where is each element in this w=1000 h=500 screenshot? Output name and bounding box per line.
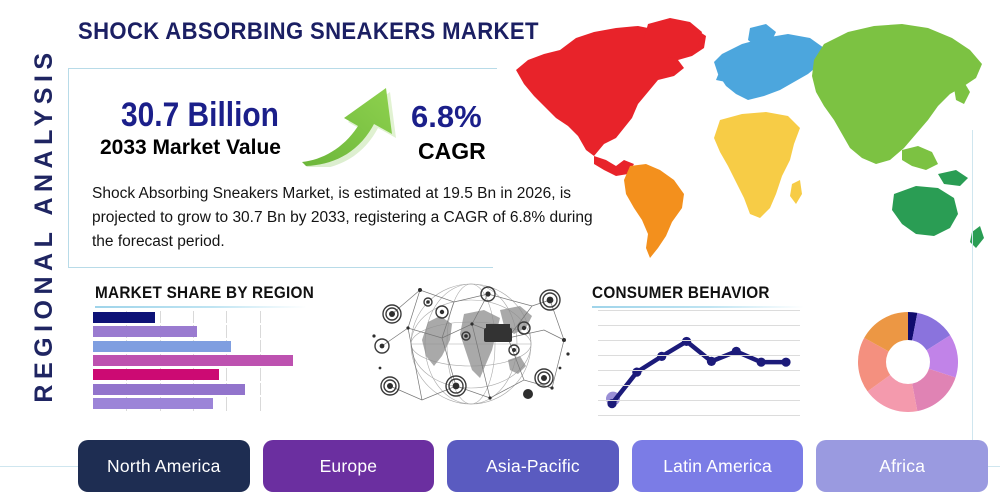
region-pill-europe[interactable]: Europe [263, 440, 435, 492]
page-title: SHOCK ABSORBING SNEAKERS MARKET [78, 18, 539, 46]
bar-gap [93, 323, 293, 325]
bar-chart-bar [93, 355, 293, 366]
region-pill-bar: North AmericaEuropeAsia-PacificLatin Ame… [78, 440, 988, 492]
map-region-south-america [624, 164, 684, 258]
right-vertical-rule [972, 130, 973, 470]
bar-gap [93, 338, 293, 340]
bar-chart-bar [93, 398, 213, 409]
global-network-globe-graphic [368, 268, 573, 420]
bar-gap [93, 366, 293, 368]
map-region-africa [714, 112, 800, 218]
region-pill-africa[interactable]: Africa [816, 440, 988, 492]
region-pill-latin-america[interactable]: Latin America [632, 440, 804, 492]
section-rule [592, 306, 804, 308]
gridline [598, 325, 800, 326]
bar-gap [93, 352, 293, 354]
map-region-australia [892, 186, 958, 236]
line-chart-marker [781, 358, 790, 367]
bar-chart-bar [93, 341, 231, 352]
bar-gap [93, 381, 293, 383]
map-region-new-guinea [938, 170, 968, 186]
consumer-behavior-line-chart [598, 310, 800, 415]
bar-chart-bars [93, 311, 293, 411]
gridline [598, 415, 800, 416]
section-title-market-share: MARKET SHARE BY REGION [95, 283, 286, 303]
donut-hole [886, 340, 930, 384]
gridline [598, 310, 800, 311]
side-label-regional-analysis: REGIONAL ANALYSIS [30, 15, 70, 435]
market-share-bar-chart [93, 311, 293, 411]
bar-chart-bar [93, 312, 155, 323]
section-rule [95, 306, 307, 308]
growth-arrow-icon [300, 82, 410, 167]
section-market-share: MARKET SHARE BY REGION [95, 283, 307, 308]
line-chart-marker [657, 352, 666, 361]
cagr-caption: CAGR [418, 138, 486, 165]
map-region-madagascar [790, 180, 802, 204]
line-chart-marker [707, 357, 716, 366]
gridline [598, 340, 800, 341]
market-value-figure: 30.7 Billion [121, 96, 279, 135]
infographic-canvas: REGIONAL ANALYSIS SHOCK ABSORBING SNEAKE… [0, 0, 1000, 500]
map-region-southeast-asia [902, 146, 938, 170]
world-map [498, 8, 998, 273]
section-consumer-behavior: CONSUMER BEHAVIOR [592, 283, 804, 308]
market-value-caption: 2033 Market Value [100, 136, 281, 160]
bar-chart-bar [93, 369, 219, 380]
gridline [598, 370, 800, 371]
bar-chart-bar [93, 326, 197, 337]
line-chart-marker [757, 358, 766, 367]
pillbar-rule-left [0, 466, 80, 467]
line-chart-marker [682, 337, 691, 346]
gridline [598, 355, 800, 356]
gridline [598, 385, 800, 386]
bar-chart-bar [93, 384, 245, 395]
line-chart-marker [632, 368, 641, 377]
section-title-consumer-behavior: CONSUMER BEHAVIOR [592, 283, 783, 303]
region-pill-north-america[interactable]: North America [78, 440, 250, 492]
regional-distribution-donut-chart [858, 312, 958, 412]
region-pill-asia-pacific[interactable]: Asia-Pacific [447, 440, 619, 492]
gridline [598, 400, 800, 401]
bar-gap [93, 395, 293, 397]
cagr-figure: 6.8% [411, 99, 482, 135]
hero-panel-border-extension [493, 68, 497, 69]
